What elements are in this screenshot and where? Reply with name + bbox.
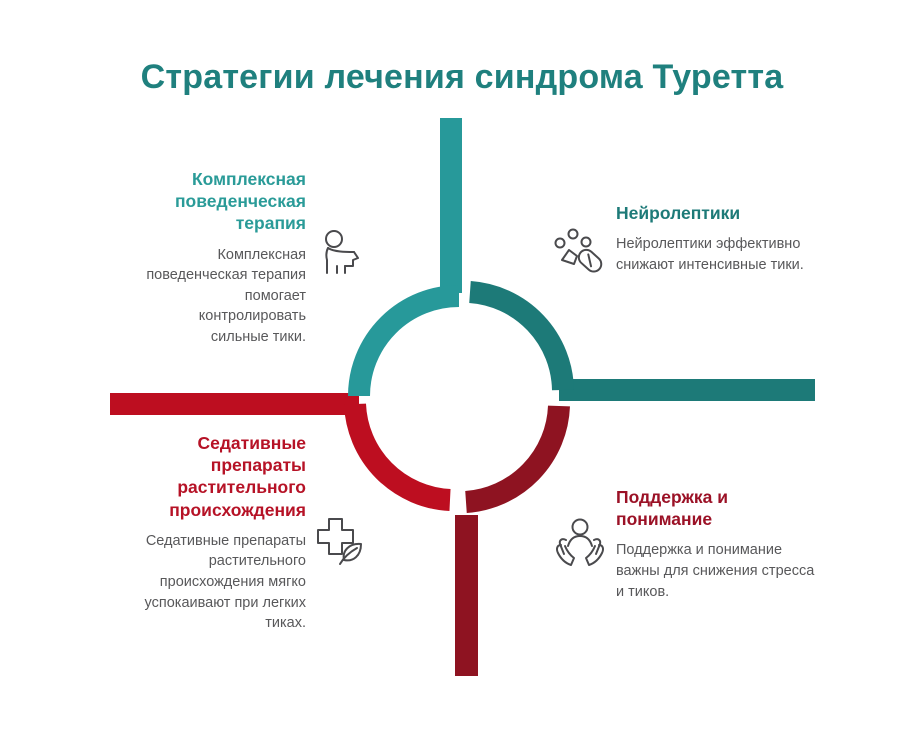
quadrant-support-body: Поддержка и понимание важны для снижения… bbox=[616, 540, 826, 602]
quadrant-neuroleptics: Нейролептики Нейролептики эффективно сни… bbox=[616, 202, 816, 275]
quadrant-support: Поддержка и понимание Поддержка и понима… bbox=[616, 486, 826, 602]
ring-arc-top-right bbox=[470, 292, 563, 390]
quadrant-neuroleptics-heading: Нейролептики bbox=[616, 202, 816, 224]
connector-stem-top bbox=[440, 118, 462, 293]
connector-arm-right bbox=[559, 379, 815, 401]
quadrant-support-heading: Поддержка и понимание bbox=[616, 486, 826, 530]
connector-stem-bottom bbox=[455, 515, 478, 676]
quadrant-neuroleptics-body: Нейролептики эффективно снижают интенсив… bbox=[616, 234, 816, 275]
pills-icon bbox=[550, 226, 606, 282]
quadrant-sedatives: Седативные препараты растительного проис… bbox=[124, 432, 306, 634]
person-mind-icon bbox=[312, 226, 368, 282]
quadrant-sedatives-heading: Седативные препараты растительного проис… bbox=[124, 432, 306, 521]
connector-arm-left bbox=[110, 393, 359, 415]
medical-cross-leaf-icon bbox=[312, 512, 368, 568]
quadrant-cbt-heading: Комплексная поведенческая терапия bbox=[138, 168, 306, 235]
supporting-hands-icon bbox=[552, 516, 608, 572]
ring-arc-bottom-right bbox=[466, 406, 559, 502]
quadrant-cbt-body: Комплексная поведенческая терапия помога… bbox=[138, 245, 306, 348]
quadrant-sedatives-body: Седативные препараты растительного проис… bbox=[124, 531, 306, 634]
ring-arc-bottom-left bbox=[355, 404, 450, 500]
quadrant-cbt: Комплексная поведенческая терапия Компле… bbox=[138, 168, 306, 348]
ring-arc-top-left bbox=[359, 296, 459, 396]
